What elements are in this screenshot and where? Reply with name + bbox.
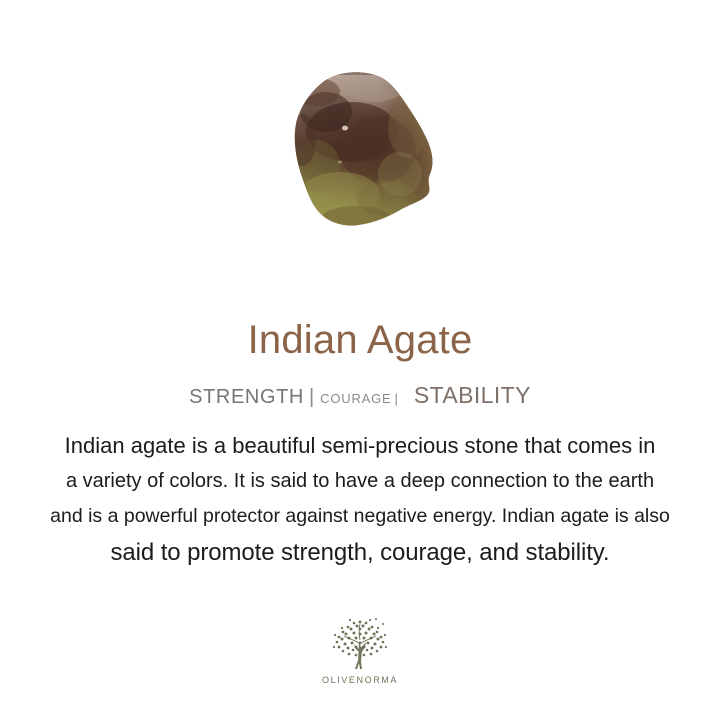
keyword-separator-2: | <box>395 391 398 406</box>
description-line-3: and is a powerful protector against nega… <box>0 499 720 534</box>
page-title: Indian Agate <box>0 316 720 364</box>
description-block: Indian agate is a beautiful semi-preciou… <box>0 428 720 572</box>
brand-logo: OLIVENORMA <box>0 616 720 685</box>
keyword-separator-1: | <box>309 386 314 409</box>
olive-tree-icon <box>326 616 394 674</box>
description-line-1: Indian agate is a beautiful semi-preciou… <box>0 428 720 464</box>
keyword-stability: STABILITY <box>414 382 531 409</box>
keyword-row: STRENGTH | COURAGE | STABILITY <box>0 382 720 409</box>
indian-agate-stone-image <box>282 70 438 230</box>
brand-wordmark: OLIVENORMA <box>322 675 398 685</box>
keyword-strength: STRENGTH <box>189 386 304 409</box>
description-line-4: said to promote strength, courage, and s… <box>0 534 720 572</box>
keyword-courage: COURAGE <box>320 391 391 406</box>
description-line-2: a variety of colors. It is said to have … <box>0 464 720 499</box>
infographic-card: Indian Agate STRENGTH | COURAGE | STABIL… <box>0 0 720 720</box>
hero-image-container <box>0 0 720 300</box>
